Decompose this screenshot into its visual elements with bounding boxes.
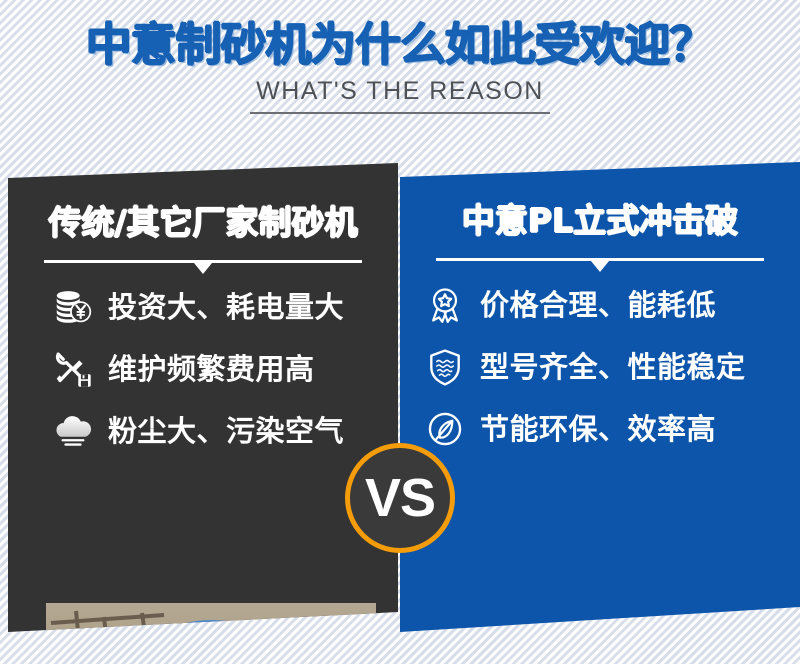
poster-root: 中意制砂机为什么如此受欢迎？ WHAT'S THE REASON 传统/其它厂家… (0, 0, 800, 664)
list-item: 维护频繁费用高 (50, 342, 398, 396)
vs-badge: VS (345, 443, 455, 553)
award-ribbon-star-icon (422, 282, 468, 328)
coins-yen-icon (50, 284, 96, 330)
subtitle-wrap: WHAT'S THE REASON (250, 77, 550, 114)
list-item-label: 投资大、耗电量大 (108, 293, 344, 322)
right-feature-list: 价格合理、能耗低 型 (400, 278, 800, 464)
list-item-label: 型号齐全、性能稳定 (480, 353, 746, 382)
list-item-label: 粉尘大、污染空气 (108, 417, 344, 446)
list-item-label: 维护频繁费用高 (108, 355, 315, 384)
shield-waves-icon (422, 344, 468, 390)
right-panel-title: 中意PL立式冲击破 (400, 204, 800, 237)
left-panel-traditional: 传统/其它厂家制砂机 (8, 160, 398, 632)
right-panel-divider (436, 258, 764, 261)
vs-label: VS (365, 471, 435, 525)
page-subtitle: WHAT'S THE REASON (250, 77, 550, 114)
left-feature-list: 投资大、耗电量大 (8, 280, 398, 466)
left-panel-divider (44, 260, 362, 263)
wrench-screwdriver-icon (50, 346, 96, 392)
list-item-label: 价格合理、能耗低 (480, 291, 716, 320)
list-item: 价格合理、能耗低 (422, 278, 800, 332)
page-title: 中意制砂机为什么如此受欢迎？ (0, 0, 800, 67)
list-item-label: 节能环保、效率高 (480, 415, 716, 444)
left-panel-photo (46, 603, 376, 632)
list-item: 投资大、耗电量大 (50, 280, 398, 334)
list-item: 粉尘大、污染空气 (50, 404, 398, 458)
right-panel-zhongyi: 中意PL立式冲击破 价格合理、能耗低 (400, 160, 800, 632)
list-item: 节能环保、效率高 (422, 402, 800, 456)
left-panel-title: 传统/其它厂家制砂机 (8, 206, 398, 239)
left-panel-inner: 传统/其它厂家制砂机 (8, 160, 398, 632)
leaf-circle-icon (422, 406, 468, 452)
dust-cloud-icon (50, 408, 96, 454)
list-item: 型号齐全、性能稳定 (422, 340, 800, 394)
header: 中意制砂机为什么如此受欢迎？ WHAT'S THE REASON (0, 0, 800, 150)
right-panel-inner: 中意PL立式冲击破 价格合理、能耗低 (400, 160, 800, 632)
